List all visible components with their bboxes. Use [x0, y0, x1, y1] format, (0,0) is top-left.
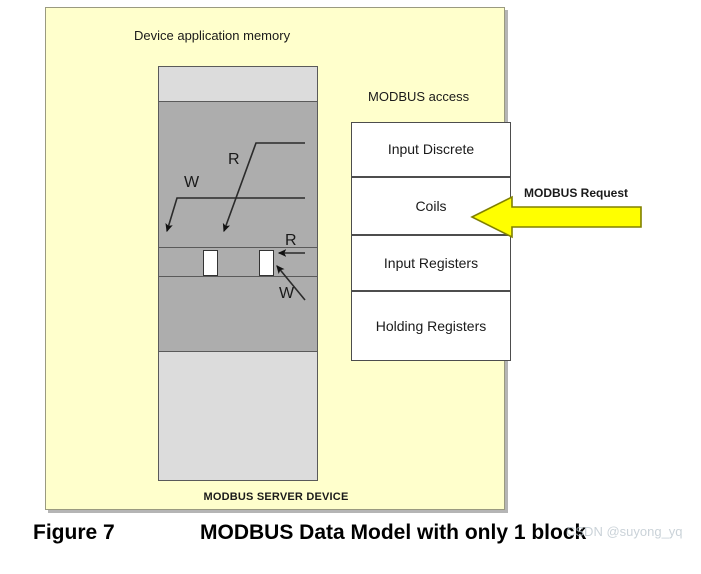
- annotation-read-lower: R: [285, 232, 297, 250]
- figure-title: MODBUS Data Model with only 1 block: [200, 521, 586, 545]
- annotation-write-upper: W: [184, 174, 199, 192]
- annotation-read-upper: R: [228, 151, 240, 169]
- annotation-write-lower: W: [279, 285, 294, 303]
- modbus-request-label: MODBUS Request: [524, 186, 628, 200]
- figure-number: Figure 7: [33, 521, 115, 545]
- modbus-request-arrow: [472, 197, 641, 237]
- connector-overlay: [0, 0, 701, 574]
- diagram-canvas: Device application memory MODBUS access …: [0, 0, 701, 574]
- watermark-text: CSDN @suyong_yq: [566, 524, 683, 539]
- connector-write-coils: [167, 198, 305, 231]
